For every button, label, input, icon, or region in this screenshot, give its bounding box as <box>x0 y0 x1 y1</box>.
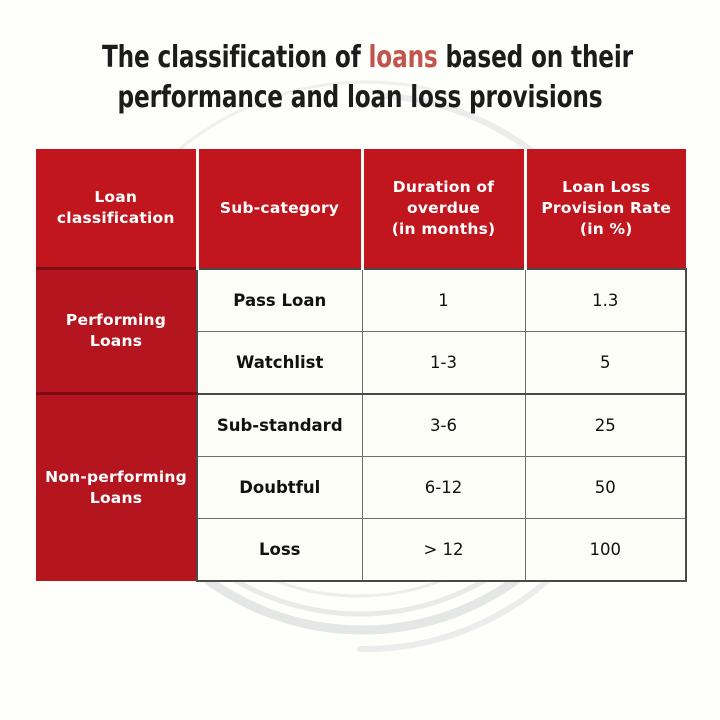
column-header-duration-of-overdue: Duration of overdue (in months) <box>362 149 525 269</box>
cell-provision-rate: 100 <box>525 518 686 581</box>
cell-duration: 3-6 <box>362 394 525 457</box>
cell-provision-rate: 25 <box>525 394 686 457</box>
cell-duration: 6-12 <box>362 456 525 518</box>
header-line: (in months) <box>364 219 524 240</box>
column-header-sub-category: Sub-category <box>197 149 362 269</box>
group-label-performing-loans: Performing Loans <box>36 269 197 394</box>
header-line: Sub-category <box>199 198 361 219</box>
cell-duration: > 12 <box>362 518 525 581</box>
group-label-line: Performing <box>36 310 196 331</box>
table-row: Non-performing Loans Sub-standard 3-6 25 <box>36 394 686 457</box>
cell-provision-rate: 5 <box>525 331 686 394</box>
title-text-after: based on their <box>438 40 633 75</box>
loan-classification-table: Loan classification Sub-category Duratio… <box>36 149 687 582</box>
cell-provision-rate: 1.3 <box>525 269 686 332</box>
header-line: Duration of <box>364 177 524 198</box>
header-line: Loan <box>36 187 196 208</box>
page-title: The classification of loans based on the… <box>0 38 720 118</box>
group-label-line: Loans <box>36 488 196 509</box>
group-label-line: Loans <box>36 331 196 352</box>
cell-duration: 1 <box>362 269 525 332</box>
table-header-row: Loan classification Sub-category Duratio… <box>36 149 686 269</box>
cell-provision-rate: 50 <box>525 456 686 518</box>
cell-duration: 1-3 <box>362 331 525 394</box>
header-line: Loan Loss <box>527 177 687 198</box>
group-label-non-performing-loans: Non-performing Loans <box>36 394 197 581</box>
header-line: overdue <box>364 198 524 219</box>
column-header-loan-classification: Loan classification <box>36 149 197 269</box>
title-accent-word: loans <box>369 40 438 75</box>
infographic-page: The classification of loans based on the… <box>0 0 720 720</box>
title-text-before: The classification of <box>102 40 369 75</box>
header-line: classification <box>36 208 196 229</box>
header-line: Provision Rate <box>527 198 687 219</box>
title-line-2: performance and loan loss provisions <box>102 78 618 118</box>
cell-sub-category: Loss <box>197 518 362 581</box>
cell-sub-category: Doubtful <box>197 456 362 518</box>
group-label-line: Non-performing <box>36 467 196 488</box>
table-row: Performing Loans Pass Loan 1 1.3 <box>36 269 686 332</box>
cell-sub-category: Sub-standard <box>197 394 362 457</box>
cell-sub-category: Watchlist <box>197 331 362 394</box>
column-header-loan-loss-provision-rate: Loan Loss Provision Rate (in %) <box>525 149 686 269</box>
header-line: (in %) <box>527 219 687 240</box>
cell-sub-category: Pass Loan <box>197 269 362 332</box>
title-line-1: The classification of loans based on the… <box>102 38 618 78</box>
